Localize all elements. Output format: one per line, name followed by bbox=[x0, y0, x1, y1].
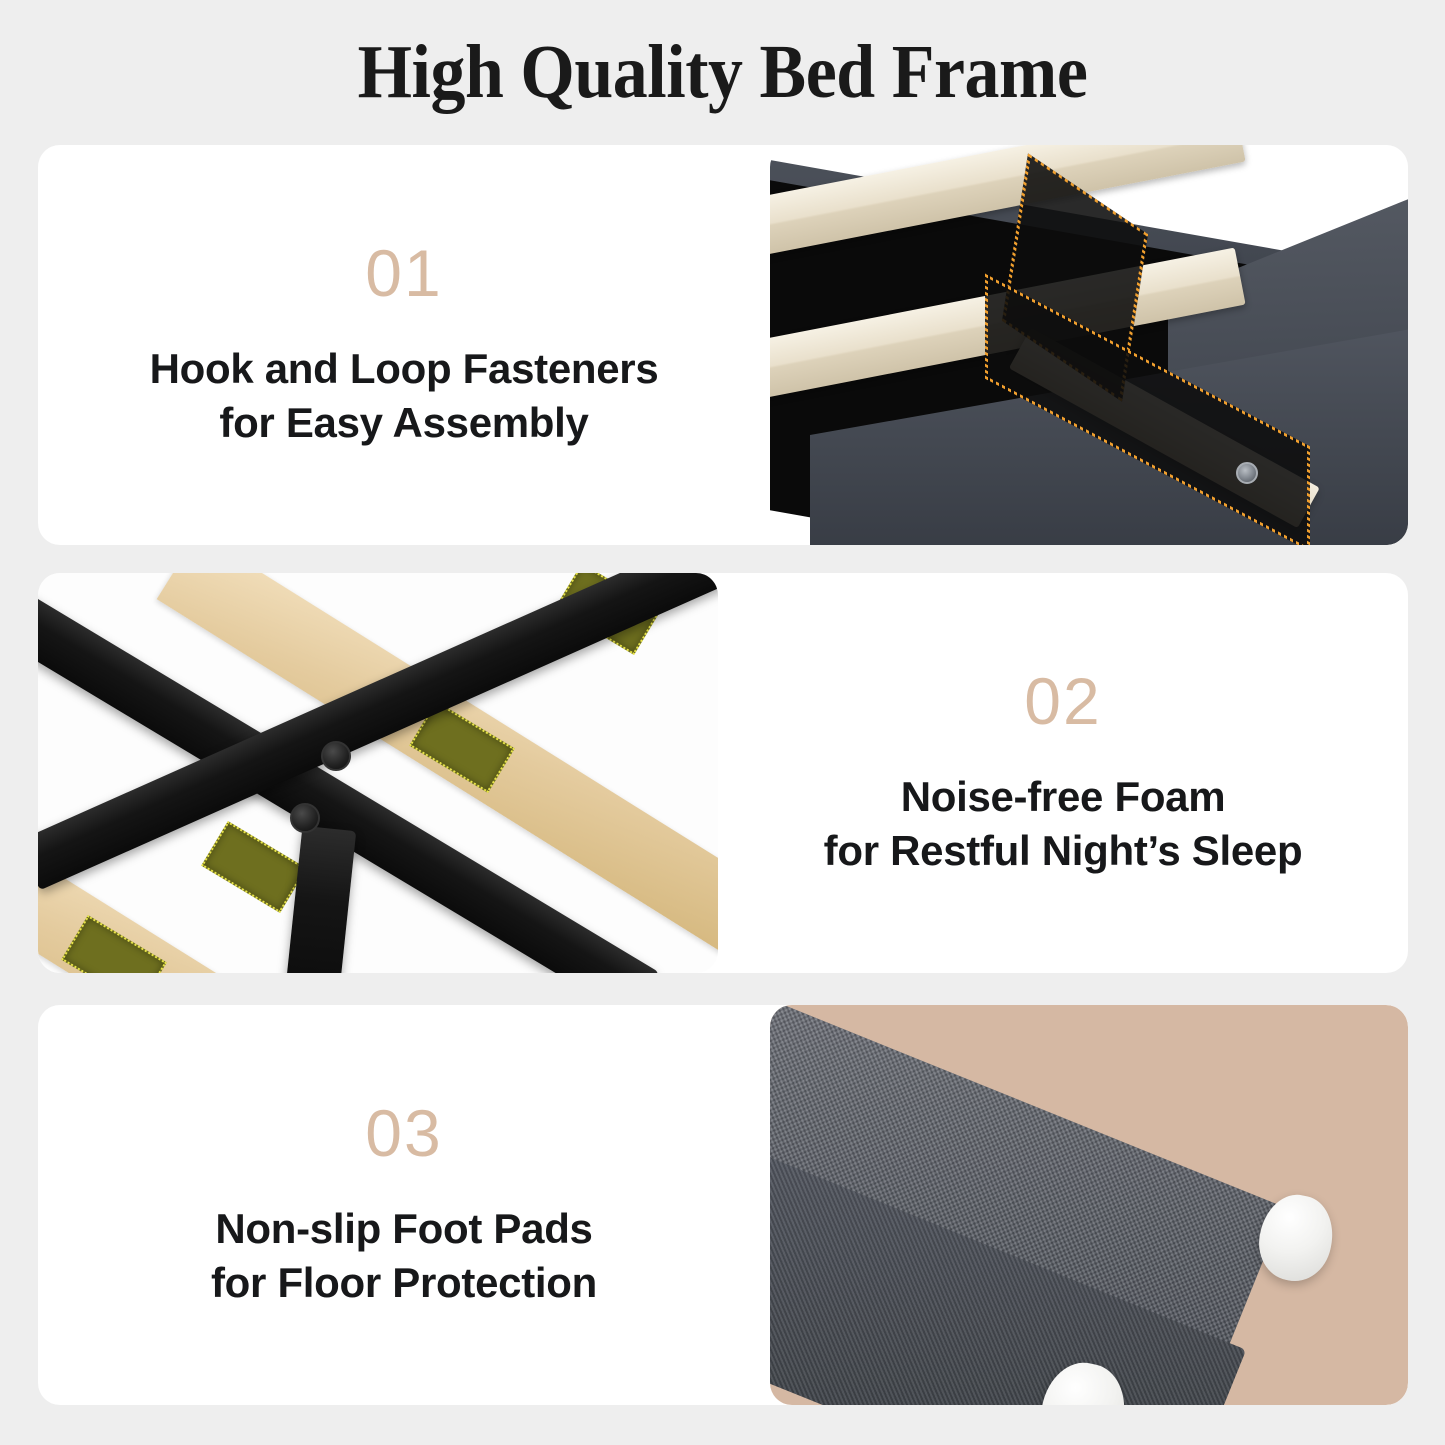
feature-heading-line-2: for Restful Night’s Sleep bbox=[824, 827, 1303, 874]
feature-heading-line-1: Noise-free Foam bbox=[901, 773, 1226, 820]
feature-heading-3: Non-slip Foot Pads for Floor Protection bbox=[211, 1202, 597, 1310]
feature-card-1: 01 Hook and Loop Fasteners for Easy Asse… bbox=[38, 145, 1408, 545]
non-slip-foot-pads-photo bbox=[770, 1005, 1408, 1405]
step-number-2: 02 bbox=[1024, 668, 1101, 734]
feature-heading-line-2: for Floor Protection bbox=[211, 1259, 597, 1306]
screw-icon bbox=[1236, 462, 1258, 484]
noise-free-foam-photo bbox=[38, 573, 718, 973]
feature-heading-1: Hook and Loop Fasteners for Easy Assembl… bbox=[150, 342, 659, 450]
page-title: High Quality Bed Frame bbox=[58, 34, 1387, 110]
feature-text-pane-2: 02 Noise-free Foam for Restful Night’s S… bbox=[718, 573, 1408, 973]
step-number-1: 01 bbox=[365, 240, 442, 306]
hook-and-loop-fastener-photo bbox=[770, 145, 1408, 545]
feature-heading-line-1: Hook and Loop Fasteners bbox=[150, 345, 659, 392]
feature-text-pane-3: 03 Non-slip Foot Pads for Floor Protecti… bbox=[38, 1005, 770, 1405]
bolt-icon-2 bbox=[290, 803, 320, 833]
step-number-3: 03 bbox=[365, 1100, 442, 1166]
feature-heading-line-1: Non-slip Foot Pads bbox=[215, 1205, 592, 1252]
feature-heading-2: Noise-free Foam for Restful Night’s Slee… bbox=[824, 770, 1303, 878]
bolt-icon-1 bbox=[321, 741, 351, 771]
feature-card-2: 02 Noise-free Foam for Restful Night’s S… bbox=[38, 573, 1408, 973]
feature-card-3: 03 Non-slip Foot Pads for Floor Protecti… bbox=[38, 1005, 1408, 1405]
feature-heading-line-2: for Easy Assembly bbox=[219, 399, 588, 446]
feature-text-pane-1: 01 Hook and Loop Fasteners for Easy Asse… bbox=[38, 145, 770, 545]
foam-pad-3 bbox=[201, 821, 307, 913]
metal-center-leg bbox=[284, 826, 357, 973]
